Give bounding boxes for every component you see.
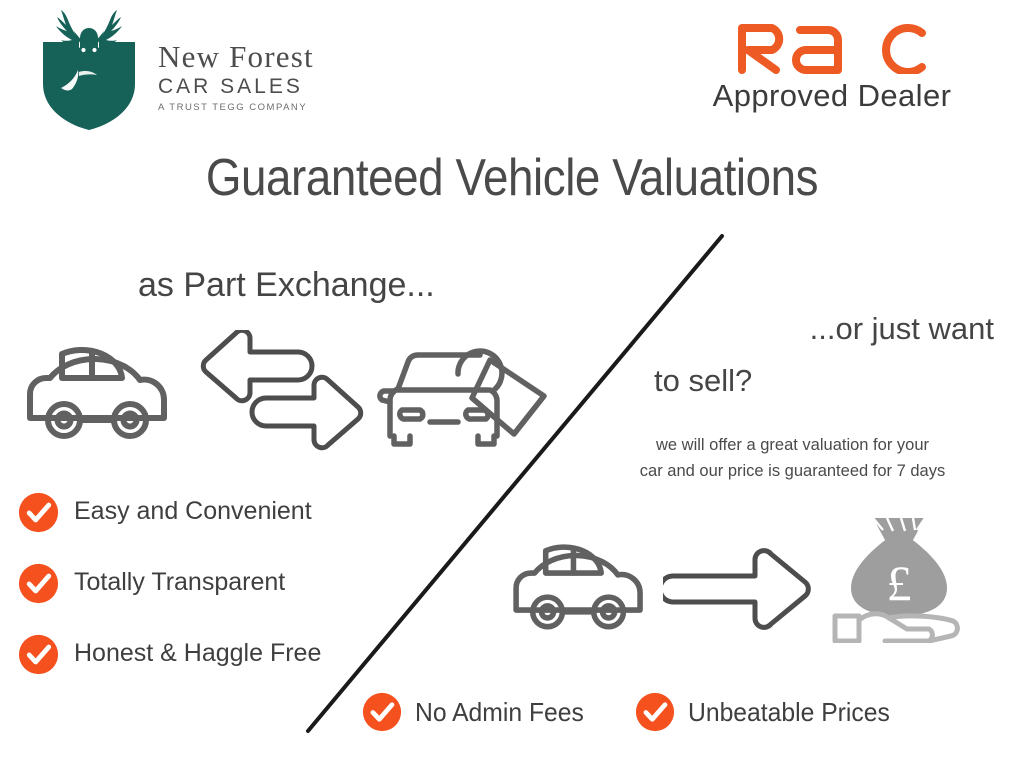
check-circle-icon	[18, 563, 59, 604]
list-item-label: Unbeatable Prices	[688, 697, 890, 728]
right-section-heading: ...or just want to sell?	[654, 303, 994, 407]
brand-line-2: CAR SALES	[158, 74, 388, 100]
exchange-arrows-icon	[198, 330, 366, 452]
list-item-label: Honest & Haggle Free	[74, 634, 321, 672]
car-side-icon	[18, 338, 178, 446]
brand-logo: New Forest CAR SALES A TRUST TEGG COMPAN…	[30, 6, 350, 134]
list-item: Honest & Haggle Free	[18, 634, 418, 675]
arrow-right-icon	[663, 546, 815, 632]
right-heading-line-2: to sell?	[654, 355, 994, 407]
list-item-label: Easy and Convenient	[74, 492, 312, 530]
left-bullet-list: Easy and Convenient Totally Transparent …	[18, 492, 418, 675]
left-icon-row	[18, 330, 548, 455]
right-heading-line-1: ...or just want	[810, 311, 994, 346]
right-body-text: we will offer a great valuation for your…	[580, 432, 1005, 484]
brand-line-1: New Forest	[158, 40, 388, 74]
right-body-line-2: car and our price is guaranteed for 7 da…	[580, 458, 1005, 484]
bottom-bullet-list: No Admin Fees Unbeatable Prices	[362, 692, 900, 732]
list-item-label: Totally Transparent	[74, 563, 285, 601]
poster-canvas: New Forest CAR SALES A TRUST TEGG COMPAN…	[0, 0, 1024, 768]
check-circle-icon	[635, 692, 675, 732]
right-body-line-1: we will offer a great valuation for your	[580, 432, 1005, 458]
list-item: Totally Transparent	[18, 563, 418, 604]
car-front-with-tag-icon	[376, 338, 556, 450]
right-icon-row: £	[495, 508, 1015, 648]
list-item: Unbeatable Prices	[635, 692, 900, 732]
list-item: No Admin Fees	[362, 692, 593, 732]
rac-approved-dealer-block: Approved Dealer	[682, 20, 982, 114]
rac-logo-icon	[732, 20, 932, 74]
currency-symbol: £	[887, 555, 912, 611]
brand-line-3: A TRUST TEGG COMPANY	[158, 100, 388, 116]
left-section-heading: as Part Exchange...	[138, 266, 435, 305]
page-title: Guaranteed Vehicle Valuations	[61, 148, 962, 208]
brand-wordmark: New Forest CAR SALES A TRUST TEGG COMPAN…	[158, 40, 388, 116]
list-item: Easy and Convenient	[18, 492, 418, 533]
check-circle-icon	[18, 492, 59, 533]
stag-shield-logo-icon	[35, 10, 143, 132]
car-side-icon	[505, 536, 653, 636]
rac-tagline: Approved Dealer	[682, 78, 982, 114]
check-circle-icon	[18, 634, 59, 675]
money-bag-in-hand-icon: £	[825, 508, 975, 643]
check-circle-icon	[362, 692, 402, 732]
list-item-label: No Admin Fees	[415, 697, 584, 728]
